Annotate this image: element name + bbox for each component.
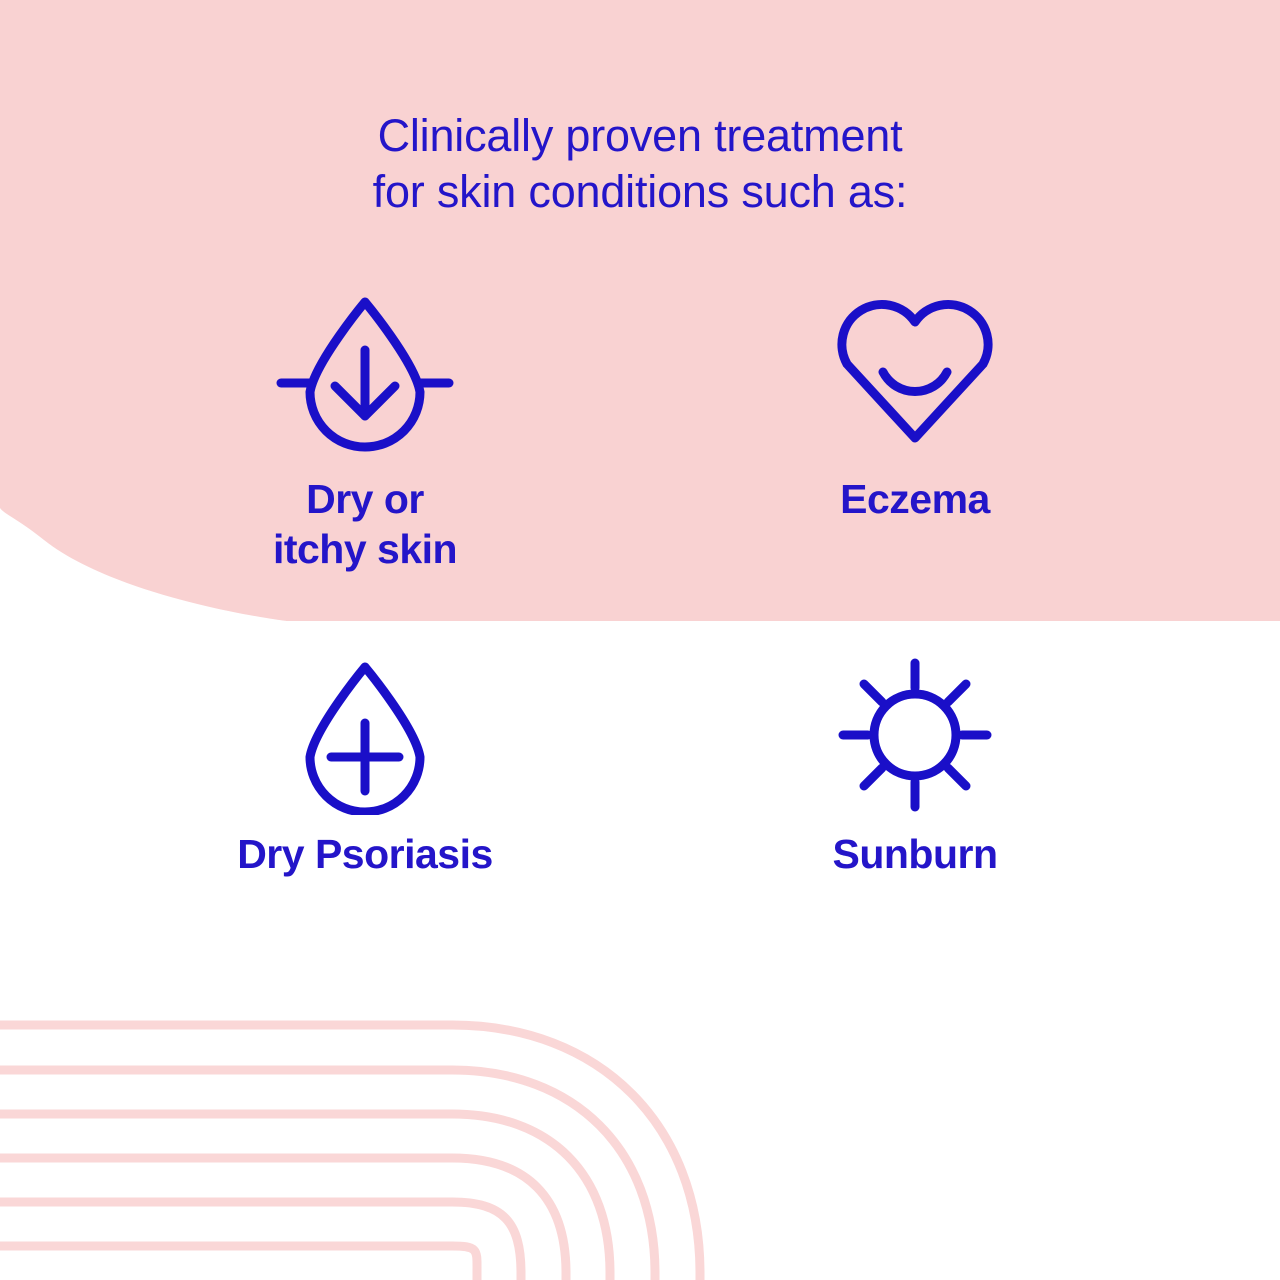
promo-graphic: Clinically proven treatment for skin con… xyxy=(0,0,1280,1280)
headline-line-2: for skin conditions such as: xyxy=(0,164,1280,220)
condition-label-dry-psoriasis: Dry Psoriasis xyxy=(155,829,575,879)
condition-label-dry-itchy-skin: Dry or itchy skin xyxy=(155,474,575,574)
droplet-plus-icon xyxy=(265,655,465,815)
content-layer: Clinically proven treatment for skin con… xyxy=(0,0,1280,1280)
condition-card-eczema: Eczema xyxy=(705,288,1125,524)
condition-label-line-2: itchy skin xyxy=(155,524,575,574)
headline-line-1: Clinically proven treatment xyxy=(0,108,1280,164)
condition-label-line-1: Dry or xyxy=(155,474,575,524)
condition-label-eczema: Eczema xyxy=(705,474,1125,524)
page-title: Clinically proven treatment for skin con… xyxy=(0,108,1280,220)
sun-icon xyxy=(815,655,1015,815)
heart-smile-icon xyxy=(815,288,1015,456)
droplet-down-arrow-icon xyxy=(265,288,465,456)
condition-label-line-1: Eczema xyxy=(705,474,1125,524)
condition-label-line-1: Sunburn xyxy=(705,829,1125,879)
condition-label-sunburn: Sunburn xyxy=(705,829,1125,879)
condition-card-sunburn: Sunburn xyxy=(705,655,1125,879)
condition-card-dry-psoriasis: Dry Psoriasis xyxy=(155,655,575,879)
condition-label-line-1: Dry Psoriasis xyxy=(155,829,575,879)
condition-card-dry-itchy-skin: Dry or itchy skin xyxy=(155,288,575,574)
